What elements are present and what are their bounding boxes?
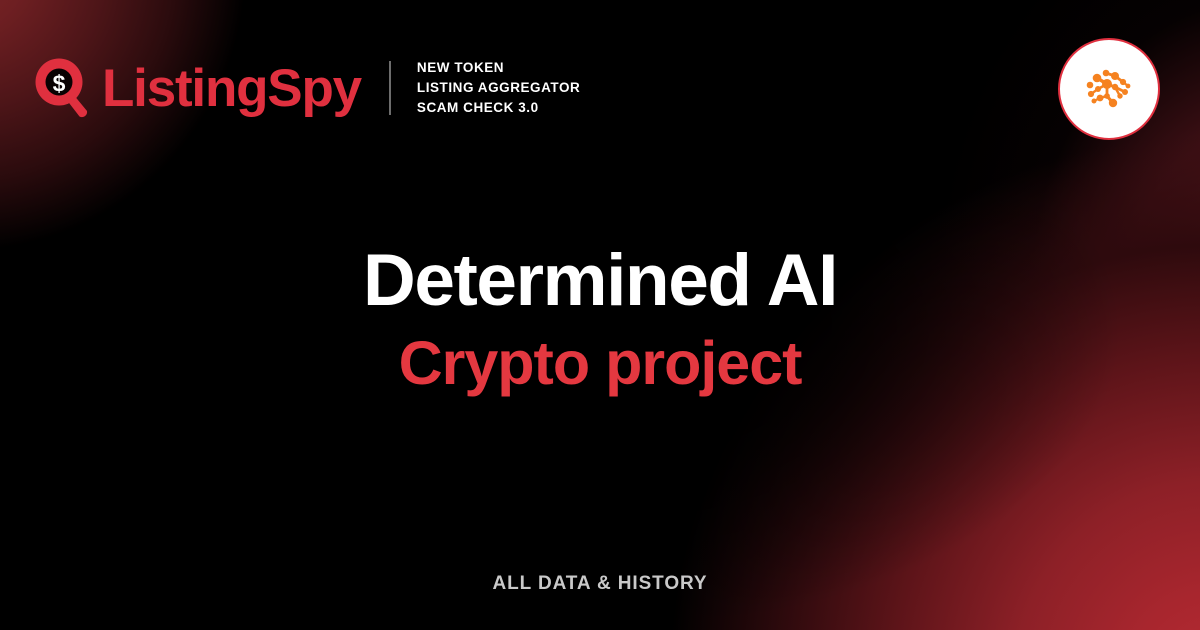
brand-name: ListingSpy	[102, 62, 361, 115]
header-divider	[389, 61, 391, 115]
tagline-line-3: SCAM CHECK 3.0	[417, 99, 580, 117]
page-subtitle: Crypto project	[0, 331, 1200, 396]
banner-canvas: $ ListingSpy NEW TOKEN LISTING AGGREGATO…	[0, 0, 1200, 630]
tagline-line-2: LISTING AGGREGATOR	[417, 79, 580, 97]
project-logo-badge[interactable]	[1058, 38, 1160, 140]
neural-brain-icon	[1082, 65, 1136, 113]
title-block: Determined AI Crypto project	[0, 243, 1200, 396]
page-title: Determined AI	[0, 243, 1200, 319]
tagline-line-1: NEW TOKEN	[417, 59, 580, 77]
brand-lockup[interactable]: $ ListingSpy	[34, 57, 361, 119]
header: $ ListingSpy NEW TOKEN LISTING AGGREGATO…	[34, 52, 580, 124]
brand-tagline: NEW TOKEN LISTING AGGREGATOR SCAM CHECK …	[417, 59, 580, 116]
magnifier-dollar-icon: $	[34, 57, 92, 119]
svg-text:$: $	[53, 71, 66, 97]
footer-note: ALL DATA & HISTORY	[0, 573, 1200, 595]
